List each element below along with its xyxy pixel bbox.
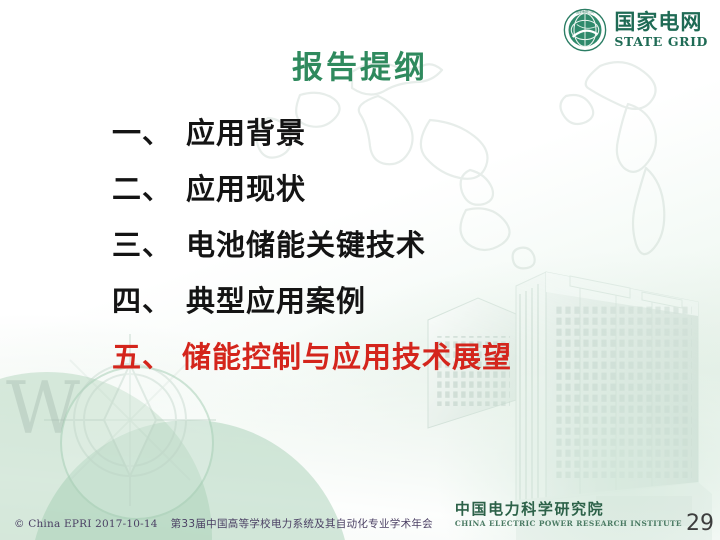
letter-watermark: W bbox=[6, 372, 80, 444]
footer: © China EPRI 2017-10-14 第33届中国高等学校电力系统及其… bbox=[14, 516, 433, 531]
outline-item-1-number: 一、 bbox=[112, 110, 186, 152]
institute-name-cn: 中国电力科学研究院 bbox=[455, 501, 682, 518]
outline-item-1[interactable]: 一、 应用背景 bbox=[112, 110, 672, 166]
outline-item-5[interactable]: 五、 储能控制与应用技术展望 bbox=[112, 334, 672, 390]
outline-item-2-number: 二、 bbox=[112, 166, 186, 208]
institute-logo: 中国电力科学研究院 CHINA ELECTRIC POWER RESEARCH … bbox=[455, 501, 682, 528]
outline-item-3-number: 三、 bbox=[112, 222, 186, 264]
outline-item-2-label: 应用现状 bbox=[186, 166, 306, 208]
outline-item-4-number: 四、 bbox=[112, 278, 186, 320]
outline-item-3[interactable]: 三、 电池储能关键技术 bbox=[112, 222, 672, 278]
footer-copyright: © China EPRI 2017-10-14 bbox=[14, 518, 158, 530]
page-title: 报告提纲 bbox=[0, 42, 720, 87]
outline-list: 一、 应用背景 二、 应用现状 三、 电池储能关键技术 四、 典型应用案例 五、… bbox=[112, 110, 672, 390]
svg-text:国家电网公司: 国家电网公司 bbox=[576, 9, 594, 14]
institute-name-en: CHINA ELECTRIC POWER RESEARCH INSTITUTE bbox=[455, 520, 682, 528]
page-number: 29 bbox=[686, 511, 714, 536]
outline-item-4[interactable]: 四、 典型应用案例 bbox=[112, 278, 672, 334]
outline-item-5-label: 储能控制与应用技术展望 bbox=[182, 334, 512, 376]
outline-item-5-number: 五、 bbox=[112, 334, 182, 376]
footer-conference: 第33届中国高等学校电力系统及其自动化专业学术年会 bbox=[171, 516, 433, 531]
presentation-slide: W bbox=[0, 0, 720, 540]
outline-item-4-label: 典型应用案例 bbox=[186, 278, 366, 320]
logo-name-cn: 国家电网 bbox=[614, 12, 708, 33]
outline-item-2[interactable]: 二、 应用现状 bbox=[112, 166, 672, 222]
outline-item-3-label: 电池储能关键技术 bbox=[186, 222, 426, 264]
outline-item-1-label: 应用背景 bbox=[186, 110, 306, 152]
